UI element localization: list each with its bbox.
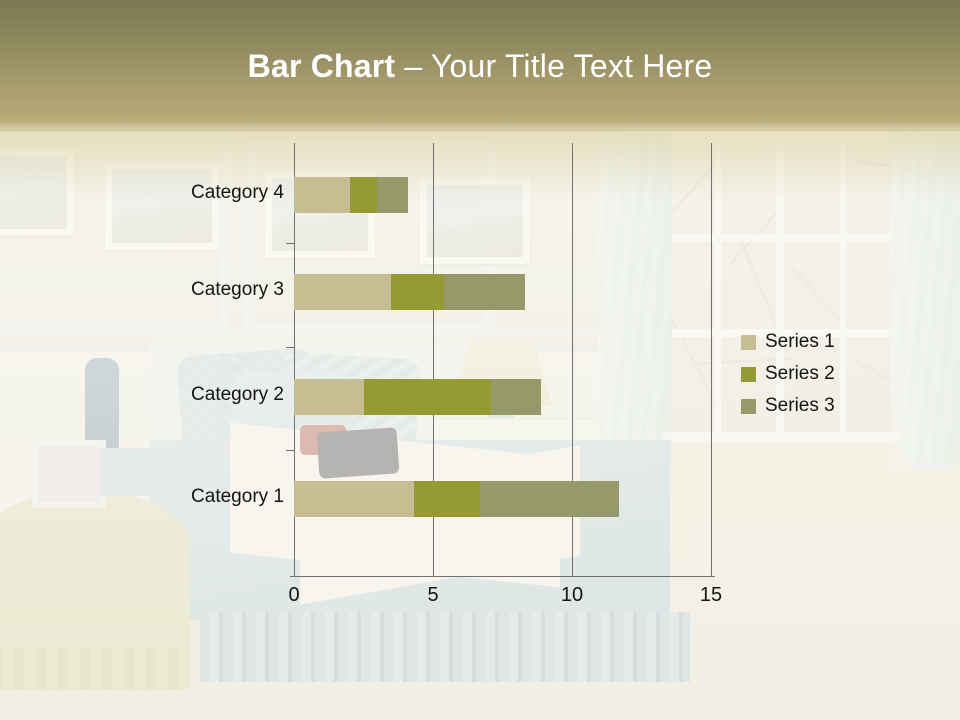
y-category-tick-1 xyxy=(286,347,294,348)
bar-segment-cat2-series2[interactable] xyxy=(364,379,492,415)
bar-segment-cat4-series3[interactable] xyxy=(377,177,408,213)
category-label-4: Category 4 xyxy=(104,182,284,204)
legend-label-2: Series 2 xyxy=(765,363,835,385)
category-label-3: Category 3 xyxy=(104,279,284,301)
legend-swatch-2 xyxy=(741,367,756,382)
bar-segment-cat1-series2[interactable] xyxy=(414,481,481,517)
legend-label-1: Series 1 xyxy=(765,331,835,353)
legend-swatch-1 xyxy=(741,335,756,350)
x-tick-label-5: 5 xyxy=(403,584,463,607)
gridline-15 xyxy=(711,143,712,576)
bar-segment-cat3-series2[interactable] xyxy=(391,274,444,310)
bar-segment-cat3-series3[interactable] xyxy=(444,274,525,310)
bar-segment-cat2-series3[interactable] xyxy=(491,379,541,415)
chart-legend: Series 1Series 2Series 3 xyxy=(741,326,835,422)
legend-label-3: Series 3 xyxy=(765,395,835,417)
x-tick-label-0: 0 xyxy=(264,584,324,607)
legend-swatch-3 xyxy=(741,399,756,414)
bar-segment-cat3-series1[interactable] xyxy=(294,274,391,310)
bar-segment-cat1-series1[interactable] xyxy=(294,481,414,517)
y-category-tick-2 xyxy=(286,450,294,451)
bar-segment-cat4-series1[interactable] xyxy=(294,177,350,213)
x-tick-label-15: 15 xyxy=(681,584,741,607)
bar-segment-cat2-series1[interactable] xyxy=(294,379,364,415)
bar-segment-cat1-series3[interactable] xyxy=(480,481,619,517)
bar-segment-cat4-series2[interactable] xyxy=(350,177,378,213)
legend-item-1[interactable]: Series 1 xyxy=(741,326,835,358)
category-label-1: Category 1 xyxy=(104,486,284,508)
x-axis-line xyxy=(294,576,712,577)
legend-item-2[interactable]: Series 2 xyxy=(741,358,835,390)
y-category-tick-0 xyxy=(286,243,294,244)
category-label-2: Category 2 xyxy=(104,384,284,406)
legend-item-3[interactable]: Series 3 xyxy=(741,390,835,422)
x-tick-label-10: 10 xyxy=(542,584,602,607)
